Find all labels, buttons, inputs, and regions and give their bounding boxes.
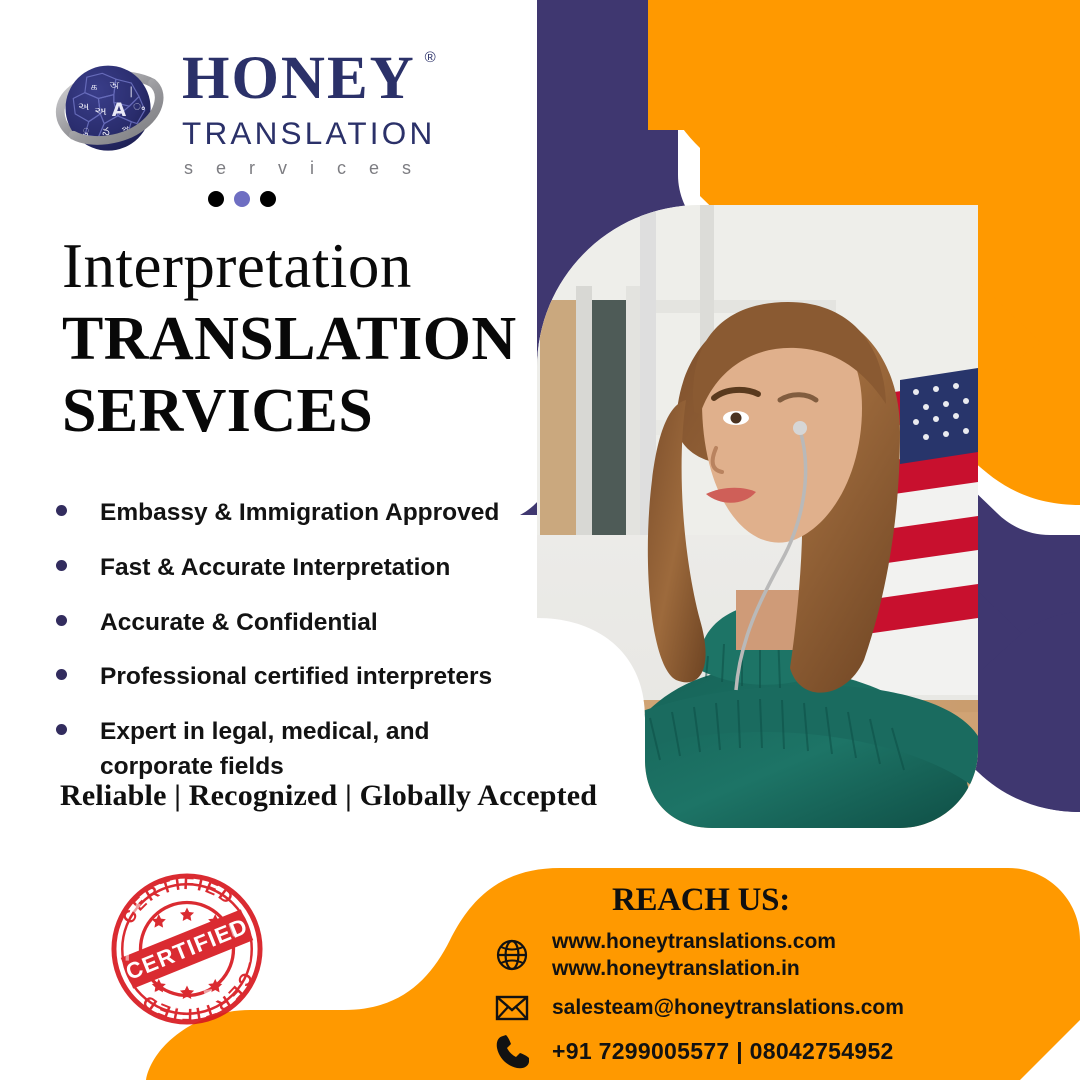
globe-icon: [494, 937, 538, 973]
logo-name-primary: HONEY: [182, 48, 416, 109]
logo-name-tertiary: s e r v i c e s: [184, 159, 420, 177]
headline-bold-1: TRANSLATION: [62, 306, 532, 372]
logo-wordmark: HONEY ® TRANSLATION s e r v i c e s: [182, 48, 435, 177]
contact-heading: REACH US:: [612, 882, 790, 919]
decorative-dots: [208, 191, 276, 207]
phone-icon: [494, 1033, 538, 1071]
feature-list: Embassy & Immigration Approved Fast & Ac…: [56, 496, 526, 805]
tagline: Reliable | Recognized | Globally Accepte…: [60, 779, 597, 813]
svg-text:ം: ം: [133, 102, 146, 113]
dot-3-icon: [260, 191, 276, 207]
dot-1-icon: [208, 191, 224, 207]
dot-2-icon: [234, 191, 250, 207]
contact-row-phone[interactable]: +91 7299005577 | 08042754952: [494, 1033, 1054, 1071]
headline-script: Interpretation: [62, 234, 532, 300]
svg-text:|: |: [129, 85, 133, 98]
page-title: Interpretation TRANSLATION SERVICES: [62, 234, 532, 444]
list-item-label: Fast & Accurate Interpretation: [100, 551, 450, 586]
bullet-dot-icon: [56, 560, 67, 571]
brand-logo[interactable]: க অ | અ અ A ം ु న প HONEY ® TRANSLATION …: [52, 48, 435, 177]
svg-text:ु: ु: [83, 124, 89, 137]
list-item-label: Professional certified interpreters: [100, 660, 492, 695]
list-item: Accurate & Confidential: [56, 606, 526, 641]
bullet-dot-icon: [56, 615, 67, 626]
envelope-icon: [494, 992, 538, 1024]
bullet-dot-icon: [56, 669, 67, 680]
hero-photo: [537, 205, 978, 828]
registered-mark-icon: ®: [425, 50, 436, 65]
logo-name-secondary: TRANSLATION: [182, 118, 435, 150]
contact-row-email[interactable]: salesteam@honeytranslations.com: [494, 992, 1054, 1024]
svg-text:અ: અ: [95, 104, 108, 118]
svg-text:অ: অ: [109, 79, 120, 92]
phone-numbers[interactable]: +91 7299005577 | 08042754952: [552, 1037, 894, 1067]
bullet-dot-icon: [56, 505, 67, 516]
website-2[interactable]: www.honeytranslation.in: [552, 955, 836, 982]
list-item: Professional certified interpreters: [56, 660, 526, 695]
poster-canvas: க অ | અ અ A ം ु న প HONEY ® TRANSLATION …: [0, 0, 1080, 1080]
bullet-dot-icon: [56, 724, 67, 735]
list-item: Embassy & Immigration Approved: [56, 496, 526, 531]
contact-details: www.honeytranslations.com www.honeytrans…: [494, 928, 1054, 1080]
email-address[interactable]: salesteam@honeytranslations.com: [552, 994, 904, 1021]
svg-text:க: க: [91, 80, 98, 93]
list-item-label: Embassy & Immigration Approved: [100, 496, 499, 531]
headline-bold-2: SERVICES: [62, 378, 532, 444]
website-links[interactable]: www.honeytranslations.com www.honeytrans…: [552, 928, 836, 983]
list-item: Fast & Accurate Interpretation: [56, 551, 526, 586]
contact-row-website[interactable]: www.honeytranslations.com www.honeytrans…: [494, 928, 1054, 983]
certified-stamp-icon: CERTIFIED CERTIFIED CERTIFIED: [104, 866, 270, 1032]
list-item-label: Accurate & Confidential: [100, 606, 378, 641]
svg-text:અ: અ: [78, 100, 90, 113]
svg-text:A: A: [112, 100, 127, 121]
globe-languages-icon: க অ | અ અ A ം ु న প: [52, 54, 168, 170]
list-item: Expert in legal, medical, and corporate …: [56, 715, 526, 785]
list-item-label: Expert in legal, medical, and corporate …: [100, 715, 526, 785]
website-1[interactable]: www.honeytranslations.com: [552, 928, 836, 955]
